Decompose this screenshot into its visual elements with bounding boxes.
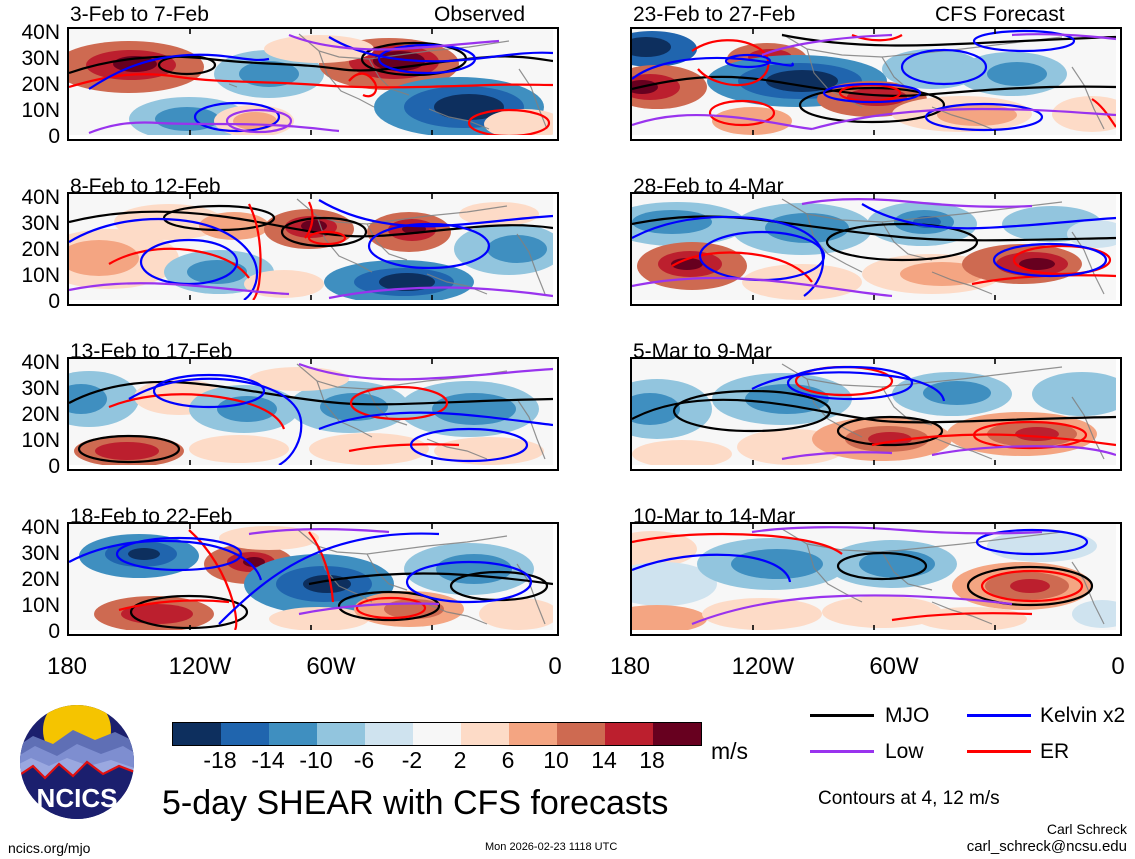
y-tick-0-row1: 0	[0, 126, 60, 147]
shear-field	[69, 194, 553, 300]
y-tick-10n-row2: 10N	[0, 265, 60, 286]
y-tick-40n-row1: 40N	[0, 22, 60, 43]
plot-area[interactable]	[630, 192, 1122, 306]
colorbar-tick--2: -2	[388, 749, 436, 772]
x-tick-60w-left: 60W	[292, 655, 370, 679]
colorbar-swatch-7	[509, 723, 557, 745]
x-tick-180-right: 180	[600, 655, 660, 679]
y-tick-30n-row2: 30N	[0, 213, 60, 234]
y-tick-40n-row3: 40N	[0, 352, 60, 373]
colorbar-swatch-5	[413, 723, 461, 745]
shear-field	[632, 29, 1116, 135]
plot-area[interactable]	[630, 27, 1122, 141]
legend-swatch-low	[810, 750, 874, 753]
colorbar-swatch-9	[605, 723, 653, 745]
plot-area[interactable]	[630, 522, 1122, 636]
colorbar-tick--10: -10	[292, 749, 340, 772]
y-tick-0-row2: 0	[0, 291, 60, 312]
plot-area[interactable]	[67, 522, 559, 636]
shear-field	[69, 29, 553, 135]
x-tick-120w-right: 120W	[718, 655, 808, 679]
y-tick-20n-row4: 20N	[0, 569, 60, 590]
colorbar-swatch-1	[221, 723, 269, 745]
shear-field	[632, 359, 1116, 465]
y-tick-30n-row1: 30N	[0, 48, 60, 69]
page-title: 5-day SHEAR with CFS forecasts	[162, 786, 668, 820]
legend-swatch-kelvin	[967, 714, 1031, 717]
colorbar-swatch-8	[557, 723, 605, 745]
colorbar-tick-6: 6	[484, 749, 532, 772]
plot-area[interactable]	[630, 357, 1122, 471]
y-tick-40n-row4: 40N	[0, 517, 60, 538]
shear-field	[69, 359, 553, 465]
column-header-observed: Observed	[434, 4, 525, 25]
y-tick-20n-row3: 20N	[0, 404, 60, 425]
shear-field	[632, 524, 1116, 630]
x-tick-0-right: 0	[1091, 655, 1135, 679]
y-tick-0-row4: 0	[0, 621, 60, 642]
colorbar-swatch-10	[653, 723, 701, 745]
site-url[interactable]: ncics.org/mjo	[8, 841, 90, 855]
legend-label-low: Low	[885, 741, 924, 762]
colorbar-tick--18: -18	[196, 749, 244, 772]
x-tick-0-left: 0	[528, 655, 582, 679]
logo-text: NCICS	[37, 783, 118, 813]
colorbar-swatch-0	[173, 723, 221, 745]
x-tick-180-left: 180	[37, 655, 97, 679]
colorbar[interactable]	[172, 722, 702, 746]
shear-field	[69, 524, 553, 630]
author-name: Carl Schreck	[907, 822, 1127, 836]
legend-swatch-mjo	[810, 714, 874, 717]
colorbar-tick--6: -6	[340, 749, 388, 772]
y-tick-10n-row1: 10N	[0, 100, 60, 121]
y-tick-10n-row3: 10N	[0, 430, 60, 451]
shear-field	[632, 194, 1116, 300]
author-email[interactable]: carl_schreck@ncsu.edu	[907, 839, 1127, 854]
x-tick-120w-left: 120W	[155, 655, 245, 679]
colorbar-tick--14: -14	[244, 749, 292, 772]
colorbar-tick-18: 18	[628, 749, 676, 772]
plot-area[interactable]	[67, 357, 559, 471]
plot-area[interactable]	[67, 27, 559, 141]
column-header-forecast: CFS Forecast	[935, 4, 1065, 25]
panel-title: 23-Feb to 27-Feb	[633, 4, 795, 25]
legend-label-er: ER	[1040, 741, 1069, 762]
colorbar-swatch-3	[317, 723, 365, 745]
timestamp: Mon 2026-02-23 1118 UTC	[485, 842, 617, 853]
colorbar-swatch-4	[365, 723, 413, 745]
y-tick-10n-row4: 10N	[0, 595, 60, 616]
plot-area[interactable]	[67, 192, 559, 306]
y-tick-20n-row2: 20N	[0, 239, 60, 260]
y-tick-20n-row1: 20N	[0, 74, 60, 95]
legend-label-mjo: MJO	[885, 705, 929, 726]
colorbar-swatch-6	[461, 723, 509, 745]
colorbar-swatch-2	[269, 723, 317, 745]
x-tick-60w-right: 60W	[855, 655, 933, 679]
y-tick-30n-row3: 30N	[0, 378, 60, 399]
legend-label-kelvin: Kelvin x2	[1040, 705, 1125, 726]
colorbar-tick-14: 14	[580, 749, 628, 772]
y-tick-0-row3: 0	[0, 456, 60, 477]
contour-note: Contours at 4, 12 m/s	[818, 789, 1000, 808]
colorbar-tick-2: 2	[436, 749, 484, 772]
y-tick-30n-row4: 30N	[0, 543, 60, 564]
panel-title: 3-Feb to 7-Feb	[70, 4, 209, 25]
colorbar-units: m/s	[711, 740, 748, 763]
ncics-logo: NCICS	[15, 700, 140, 825]
colorbar-tick-10: 10	[532, 749, 580, 772]
legend-swatch-er	[967, 750, 1031, 753]
y-tick-40n-row2: 40N	[0, 187, 60, 208]
